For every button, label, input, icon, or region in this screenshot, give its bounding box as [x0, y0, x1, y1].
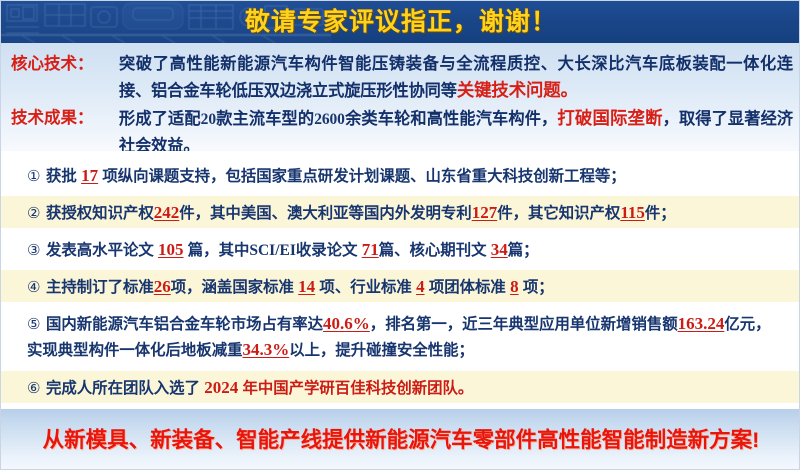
- intro-number-models: 20: [201, 111, 216, 128]
- list-number-weight-reduction: 34.3%: [242, 340, 289, 359]
- intro-number-wheels: 2600: [314, 111, 345, 128]
- list-text-segment: 以上，提升碰撞安全性能；: [289, 342, 474, 359]
- list-number-sales-revenue: 163.24: [678, 314, 725, 333]
- list-text-segment: 件；: [645, 205, 676, 222]
- list-number-group-standards: 8: [510, 277, 519, 296]
- list-number-market-share: 40.6%: [323, 314, 370, 333]
- list-text-segment: ，排名第一，近三年典型应用单位新增销售额: [370, 316, 678, 333]
- list-marker-2: ②: [27, 201, 46, 226]
- intro-label-achievement: 技术成果：: [11, 105, 119, 131]
- list-marker-4: ④: [27, 275, 46, 300]
- list-text-segment: 项团体标准: [425, 279, 511, 296]
- list-number-other-ip: 115: [620, 203, 645, 222]
- intro-panel: 核心技术： 突破了高性能新能源汽车构件智能压铸装备与全流程质控、大长深比汽车底板…: [1, 43, 800, 151]
- list-number-core-journal: 34: [491, 240, 508, 259]
- list-label-sci-ei: SCI/EI: [249, 242, 296, 259]
- list-marker-6: ⑥: [27, 376, 46, 401]
- list-text-segment: 完成人所在团队入选了: [46, 380, 204, 397]
- list-number-industry-standards: 4: [416, 277, 425, 296]
- list-text-segment: 篇、核心期刊文: [379, 242, 491, 259]
- list-number-projects: 17: [81, 166, 98, 185]
- list-text-segment: 项、行业标准: [315, 279, 416, 296]
- list-text-segment: 获授权知识产权: [46, 205, 154, 222]
- list-item: ④主持制订了标准26项，涵盖国家标准 14 项、行业标准 4 项团体标准 8 项…: [1, 270, 800, 302]
- list-item: ⑤国内新能源汽车铝合金车轮市场占有率达40.6%，排名第一，近三年典型应用单位新…: [1, 307, 800, 365]
- list-highlight-team-award: 年中国产学研百佳科技创新团队。: [238, 380, 473, 397]
- intro-text-segment: 余类车轮和高性能汽车构件，: [345, 110, 558, 128]
- presentation-slide: 敬请专家评议指正，谢谢！ 核心技术： 突破了高性能新能源汽车构件智能压铸装备与全…: [0, 0, 800, 470]
- list-text-segment: 收录论文: [296, 242, 362, 259]
- list-text-segment: 项纵向课题支持，包括国家重点研发计划课题、山东省重大科技创新工程等；: [98, 168, 626, 185]
- intro-row-core-tech: 核心技术： 突破了高性能新能源汽车构件智能压铸装备与全流程质控、大长深比汽车底板…: [11, 51, 793, 104]
- achievement-list: ①获批 17 项纵向课题支持，包括国家重点研发计划课题、山东省重大科技创新工程等…: [1, 151, 800, 409]
- list-text-segment: 项，涵盖国家标准: [171, 279, 298, 296]
- list-item: ⑥完成人所在团队入选了 2024 年中国产学研百佳科技创新团队。: [1, 371, 800, 403]
- intro-label-core-tech: 核心技术：: [11, 51, 119, 77]
- list-item: ②获授权知识产权242件，其中美国、澳大利亚等国内外发明专利127件，其它知识产…: [1, 196, 800, 228]
- list-number-ip-total: 242: [154, 203, 180, 222]
- bottom-banner-text: 从新模具、新装备、智能产线提供新能源汽车零部件高性能智能制造新方案!: [1, 409, 800, 470]
- list-text-segment: 篇，其中: [184, 242, 250, 259]
- slide-title-bar: 敬请专家评议指正，谢谢！: [1, 1, 800, 43]
- list-text-segment: 国内新能源汽车铝合金车轮市场占有率达: [46, 316, 323, 333]
- list-text-segment: 获批: [46, 168, 81, 185]
- list-item: ③发表高水平论文 105 篇，其中SCI/EI收录论文 71篇、核心期刊文 34…: [1, 233, 800, 265]
- list-item: ①获批 17 项纵向课题支持，包括国家重点研发计划课题、山东省重大科技创新工程等…: [1, 159, 800, 191]
- list-text-segment: 篇；: [508, 242, 539, 259]
- list-text-segment: 主持制订了标准: [46, 279, 154, 296]
- list-number-patents: 127: [472, 203, 498, 222]
- list-number-papers: 105: [158, 240, 184, 259]
- intro-highlight-monopoly: 打破国际垄断: [557, 108, 662, 128]
- list-text-segment: 件，其它知识产权: [497, 205, 620, 222]
- page-title: 敬请专家评议指正，谢谢！: [1, 1, 800, 43]
- list-number-standards-total: 26: [154, 277, 171, 296]
- list-number-year: 2024: [204, 378, 238, 397]
- intro-text-segment: 形成了适配: [119, 110, 201, 128]
- list-text-segment: 项；: [519, 279, 554, 296]
- intro-text-segment: 款主流车型的: [216, 110, 314, 128]
- list-marker-5: ⑤: [27, 312, 46, 337]
- list-text-segment: 件，其中美国、澳大利亚等国内外发明专利: [179, 205, 471, 222]
- intro-highlight-core-tech: 关键技术问题。: [457, 80, 578, 100]
- list-marker-1: ①: [27, 164, 46, 189]
- intro-body-core-tech: 突破了高性能新能源汽车构件智能压铸装备与全流程质控、大长深比汽车底板装配一体化连…: [119, 51, 793, 104]
- list-text-segment: 发表高水平论文: [46, 242, 158, 259]
- bottom-banner: 从新模具、新装备、智能产线提供新能源汽车零部件高性能智能制造新方案!: [1, 409, 800, 470]
- list-number-national-standards: 14: [298, 277, 315, 296]
- list-number-sci-ei-papers: 71: [362, 240, 379, 259]
- list-marker-3: ③: [27, 238, 46, 263]
